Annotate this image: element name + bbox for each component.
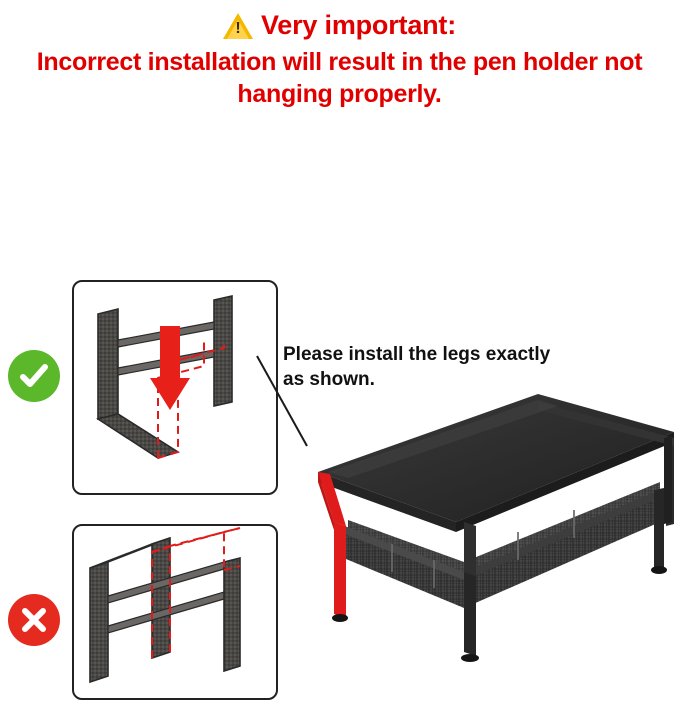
heading-line-1: ! Very important: <box>0 8 679 42</box>
correct-marker: Correct <box>8 350 60 402</box>
incorrect-leg-drawing <box>74 526 276 698</box>
desk-organizer-photo <box>288 372 679 672</box>
incorrect-marker: Incorrect <box>8 594 60 646</box>
check-mark-icon <box>17 359 51 393</box>
heading-line-2: Incorrect installation will result in th… <box>0 42 679 110</box>
correct-leg-drawing <box>74 282 276 493</box>
warning-heading: ! Very important: Incorrect installation… <box>0 0 679 110</box>
heading-line-1-text: Very important: <box>261 10 456 40</box>
correct-leg-orientation-diagram <box>72 280 278 495</box>
incorrect-leg-orientation-diagram <box>72 524 278 700</box>
cross-mark-icon <box>19 605 49 635</box>
illustration-area: Correct Incorrect <box>0 110 679 580</box>
warning-triangle-icon: ! <box>223 12 253 39</box>
